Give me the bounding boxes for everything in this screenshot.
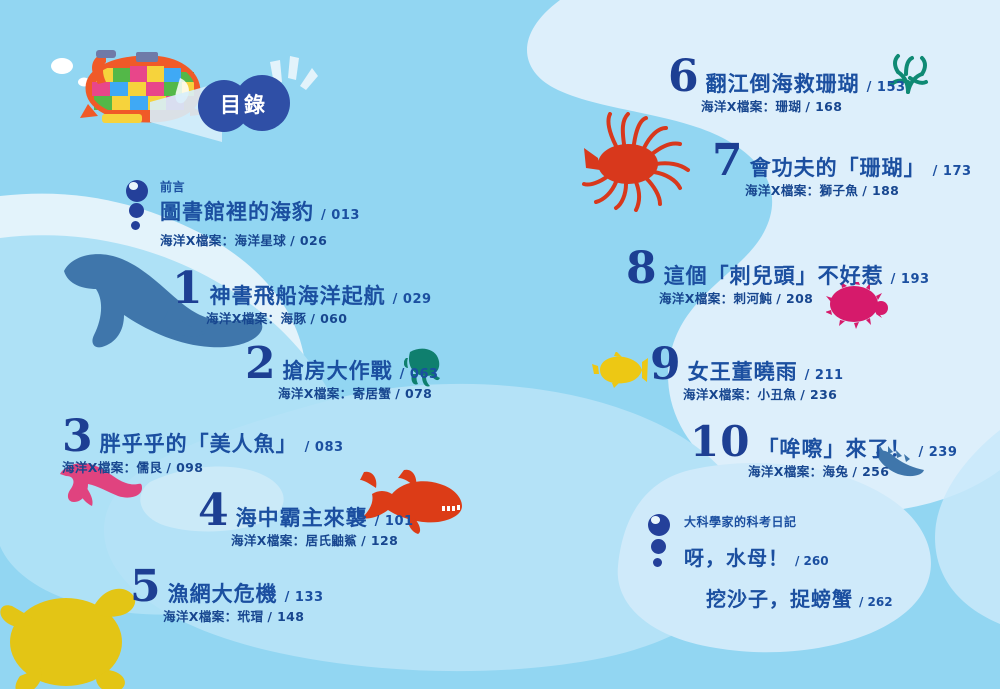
preface-sub-prefix: 海洋X檔案： [160,233,235,248]
dot-large [126,180,148,202]
chapter-sub-name: 海豚 [281,311,307,326]
chapter-number: 1 [172,270,203,307]
clownfish-icon [592,352,648,388]
chapter-sub-page: / 236 [800,387,837,402]
chapter-subline: 海洋X檔案：玳瑁/ 148 [163,606,324,625]
chapter-sub-name: 獅子魚 [820,183,859,198]
chapter-number: 7 [712,142,743,179]
chapter-sub-page: / 148 [267,609,304,624]
chapter-sub-prefix: 海洋X檔案： [163,609,238,624]
epilogue-item-title: 呀，水母！ [684,542,789,571]
chapter-sub-prefix: 海洋X檔案： [231,533,306,548]
preface-title: 圖書館裡的海豹 [160,196,314,226]
lionfish-icon [580,112,700,212]
chapter-page: / 101 [375,514,414,529]
chapter-sub-name: 玳瑁 [238,609,264,624]
chapter-page: / 063 [400,367,439,382]
chapter-subline: 海洋X檔案：居氏鼬鯊/ 128 [231,530,414,549]
epilogue-item[interactable]: 挖沙子，捉螃蟹 / 262 [706,583,893,612]
chapter-title: 漁網大危機 [168,578,278,608]
chapter-sub-prefix: 海洋X檔案： [745,183,820,198]
chapter-subline: 海洋X檔案：珊瑚/ 168 [701,96,906,115]
chapter-sub-prefix: 海洋X檔案： [206,311,281,326]
epilogue-section[interactable]: 大科學家的科考日記 呀，水母！ / 260 挖沙子，捉螃蟹 / 262 [684,513,893,612]
chapter-sub-name: 居氏鼬鯊 [306,533,358,548]
chapter-sub-page: / 078 [395,386,432,401]
chapter-sub-name: 寄居蟹 [353,386,392,401]
epilogue-item-page: / 260 [795,554,829,568]
chapter-number: 4 [198,492,229,529]
toc-entry-preface[interactable]: 前言 圖書館裡的海豹 / 013 海洋X檔案：海洋星球/ 026 [160,178,360,249]
chapter-sub-prefix: 海洋X檔案： [659,291,734,306]
toc-page: 目錄 [0,0,1000,689]
chapter-sub-name: 海兔 [823,464,849,479]
chapter-number: 3 [62,418,93,455]
chapter-sub-name: 儒艮 [137,460,163,475]
chapter-title: 「哞嚓」來了！ [757,433,911,463]
chapter-subline: 海洋X檔案：寄居蟹/ 078 [278,383,439,402]
preface-dots [126,180,156,238]
chapter-subline: 海洋X檔案：小丑魚/ 236 [683,384,844,403]
chapter-page: / 211 [805,368,844,383]
epilogue-item-title: 挖沙子，捉螃蟹 [706,583,853,612]
chapter-sub-prefix: 海洋X檔案： [701,99,776,114]
epilogue-dots [648,514,678,572]
chapter-sub-page: / 208 [776,291,813,306]
chapter-sub-prefix: 海洋X檔案： [683,387,758,402]
epilogue-item-page: / 262 [859,595,893,609]
dot-small [131,221,140,230]
chapter-sub-name: 刺河魨 [734,291,773,306]
chapter-title: 搶房大作戰 [283,355,393,385]
toc-entry-6[interactable]: 6 翻江倒海救珊瑚 / 153 海洋X檔案：珊瑚/ 168 [668,58,906,115]
chapter-title: 女王董曉雨 [688,356,798,386]
chapter-sub-prefix: 海洋X檔案： [278,386,353,401]
page-title: 目錄 [205,82,283,126]
chapter-number: 9 [650,346,681,383]
chapter-subline: 海洋X檔案：海豚/ 060 [206,308,432,327]
chapter-number: 5 [130,568,161,605]
chapter-page: / 173 [933,164,972,179]
chapter-number: 8 [626,250,657,287]
chapter-page: / 193 [891,272,930,287]
epilogue-item[interactable]: 呀，水母！ / 260 [684,542,893,571]
dot-medium [651,539,666,554]
preface-subline: 海洋X檔案：海洋星球/ 026 [160,230,360,249]
preface-sub-page: / 026 [290,233,327,248]
toc-entry-1[interactable]: 1 神書飛船海洋起航 / 029 海洋X檔案：海豚/ 060 [172,270,432,327]
chapter-title: 神書飛船海洋起航 [210,280,386,310]
chapter-page: / 083 [305,440,344,455]
chapter-number: 10 [690,424,750,460]
dot-medium [129,203,144,218]
dot-small [653,558,662,567]
chapter-sub-prefix: 海洋X檔案： [62,460,137,475]
chapter-page: / 133 [285,590,324,605]
chapter-page: / 029 [393,292,432,307]
chapter-subline: 海洋X檔案：儒艮/ 098 [62,457,344,476]
preface-page: / 013 [321,208,360,223]
preface-label: 前言 [160,178,360,195]
toc-entry-9[interactable]: 9 女王董曉雨 / 211 海洋X檔案：小丑魚/ 236 [650,346,844,403]
chapter-number: 2 [245,345,276,382]
toc-entry-4[interactable]: 4 海中霸主來襲 / 101 海洋X檔案：居氏鼬鯊/ 128 [198,492,414,549]
chapter-subline: 海洋X檔案：海兔/ 256 [748,461,957,480]
toc-entry-10[interactable]: 10 「哞嚓」來了！ / 239 海洋X檔案：海兔/ 256 [690,424,957,480]
chapter-sub-page: / 256 [852,464,889,479]
chapter-subline: 海洋X檔案：刺河魨/ 208 [659,288,930,307]
chapter-title: 會功夫的「珊瑚」 [750,152,926,182]
toc-entry-3[interactable]: 3 胖乎乎的「美人魚」 / 083 海洋X檔案：儒艮/ 098 [62,418,344,476]
chapter-sub-page: / 060 [310,311,347,326]
chapter-title: 海中霸主來襲 [236,502,368,532]
toc-entry-5[interactable]: 5 漁網大危機 / 133 海洋X檔案：玳瑁/ 148 [130,568,324,625]
toc-entry-7[interactable]: 7 會功夫的「珊瑚」 / 173 海洋X檔案：獅子魚/ 188 [712,142,972,199]
chapter-number: 6 [668,58,699,95]
chapter-sub-page: / 168 [805,99,842,114]
chapter-sub-prefix: 海洋X檔案： [748,464,823,479]
preface-sub-name: 海洋星球 [235,233,287,248]
chapter-subline: 海洋X檔案：獅子魚/ 188 [745,180,972,199]
epilogue-label: 大科學家的科考日記 [684,513,893,530]
chapter-sub-page: / 098 [166,460,203,475]
chapter-sub-page: / 128 [361,533,398,548]
chapter-title: 胖乎乎的「美人魚」 [100,428,298,458]
chapter-title: 這個「刺兒頭」不好惹 [664,260,884,290]
chapter-title: 翻江倒海救珊瑚 [706,68,860,98]
chapter-page: / 153 [867,80,906,95]
dot-large [648,514,670,536]
chapter-sub-name: 小丑魚 [758,387,797,402]
chapter-sub-page: / 188 [862,183,899,198]
toc-entry-2[interactable]: 2 搶房大作戰 / 063 海洋X檔案：寄居蟹/ 078 [245,345,439,402]
chapter-page: / 239 [918,445,957,460]
toc-entry-8[interactable]: 8 這個「刺兒頭」不好惹 / 193 海洋X檔案：刺河魨/ 208 [626,250,930,307]
chapter-sub-name: 珊瑚 [776,99,802,114]
